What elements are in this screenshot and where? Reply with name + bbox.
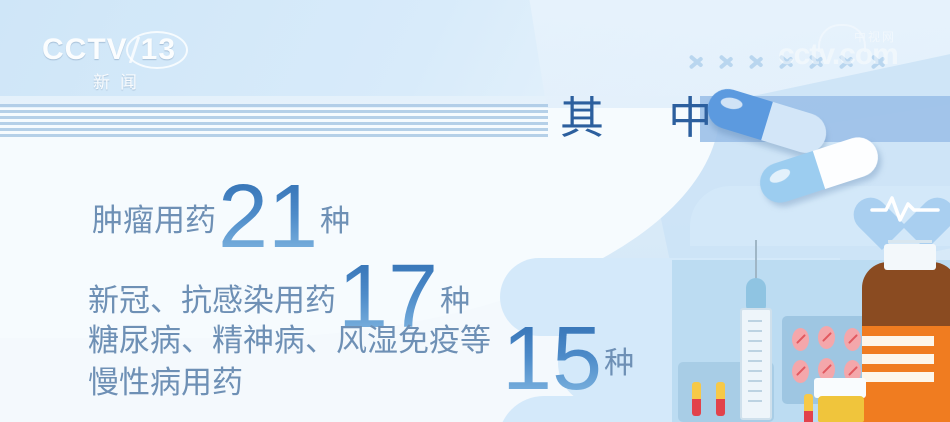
watermark-cn-text: 中视网 [854, 28, 896, 45]
syringe-icon [740, 308, 772, 420]
bottle-cap-line [888, 240, 932, 243]
item-label-line1: 糖尿病、精神病、风湿免疫等 [88, 323, 491, 358]
stripe-decoration [0, 104, 548, 138]
logo-slash-icon [128, 37, 139, 63]
list-item: 糖尿病、精神病、风湿免疫等 慢性病用药 15种 [88, 322, 491, 402]
logo-channel-number: 13 [141, 33, 176, 66]
logo-sub-label: 新闻 [42, 68, 190, 93]
heart-pulse-icon [872, 176, 938, 234]
syringe-tip [746, 278, 766, 310]
item-label: 新冠、抗感染用药 [88, 283, 336, 318]
chevron-right-icon [748, 44, 770, 78]
item-label: 肿瘤用药 [92, 203, 216, 238]
broadcast-graphic: CCTV13 新闻 中视网 cctv.com 其 中 [0, 0, 950, 422]
bottle-cap [884, 244, 936, 270]
small-jar-lid [814, 378, 866, 398]
cctv-logo: CCTV13 新闻 [42, 34, 190, 96]
list-item: 肿瘤用药21种 [92, 172, 350, 262]
cctv-watermark: 中视网 cctv.com [778, 38, 928, 84]
item-label-line2: 慢性病用药 [88, 364, 491, 402]
chevron-right-icon [688, 44, 710, 78]
item-count: 15 [500, 309, 604, 409]
item-unit: 种 [604, 347, 634, 380]
chevron-right-icon [718, 44, 740, 78]
medicine-illustration [672, 236, 950, 422]
logo-text: CCTV [42, 33, 128, 66]
item-unit: 种 [440, 285, 470, 318]
item-unit: 种 [320, 205, 350, 238]
syringe-needle-icon [755, 240, 757, 282]
small-jar [818, 396, 864, 422]
